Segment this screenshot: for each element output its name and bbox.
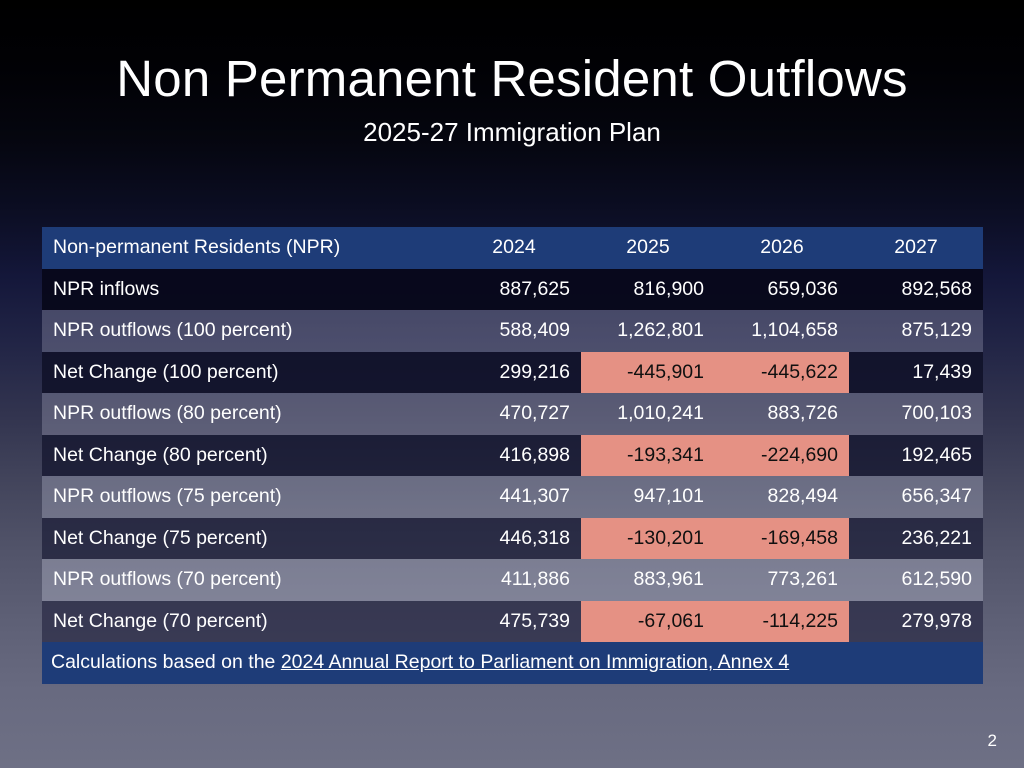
row-label: NPR inflows [42,269,447,311]
table-cell: 883,961 [581,559,715,601]
table-row: Net Change (75 percent)446,318-130,201-1… [42,518,983,560]
table-cell: 947,101 [581,476,715,518]
table-cell-highlighted: -224,690 [715,435,849,477]
table-cell: 1,262,801 [581,310,715,352]
column-header-2025: 2025 [581,227,715,269]
table-header: Non-permanent Residents (NPR) 2024 2025 … [42,227,983,269]
slide-number: 2 [988,731,997,751]
table-cell-highlighted: -114,225 [715,601,849,643]
table-body: NPR inflows887,625816,900659,036892,568N… [42,269,983,643]
table-cell: 411,886 [447,559,581,601]
row-label: NPR outflows (75 percent) [42,476,447,518]
table-cell: 416,898 [447,435,581,477]
row-label: Net Change (75 percent) [42,518,447,560]
table-cell-highlighted: -67,061 [581,601,715,643]
table-footer: Calculations based on the 2024 Annual Re… [42,642,983,684]
table-cell: 1,010,241 [581,393,715,435]
source-note-prefix: Calculations based on the [51,651,281,673]
row-label: Net Change (80 percent) [42,435,447,477]
row-label: NPR outflows (80 percent) [42,393,447,435]
table-cell-highlighted: -445,622 [715,352,849,394]
table-row: NPR outflows (100 percent)588,4091,262,8… [42,310,983,352]
table-cell-highlighted: -169,458 [715,518,849,560]
table-header-row: Non-permanent Residents (NPR) 2024 2025 … [42,227,983,269]
table-row: NPR outflows (80 percent)470,7271,010,24… [42,393,983,435]
column-header-category: Non-permanent Residents (NPR) [42,227,447,269]
table-cell: 17,439 [849,352,983,394]
column-header-2027: 2027 [849,227,983,269]
table-cell: 299,216 [447,352,581,394]
table-row: NPR outflows (75 percent)441,307947,1018… [42,476,983,518]
table-cell: 875,129 [849,310,983,352]
table-cell: 773,261 [715,559,849,601]
table-cell: 892,568 [849,269,983,311]
table-cell: 192,465 [849,435,983,477]
row-label: Net Change (100 percent) [42,352,447,394]
table-cell-highlighted: -193,341 [581,435,715,477]
slide: Non Permanent Resident Outflows 2025-27 … [0,0,1024,768]
table-cell: 883,726 [715,393,849,435]
page-title: Non Permanent Resident Outflows [0,50,1024,108]
table-cell-highlighted: -130,201 [581,518,715,560]
table-row: Net Change (100 percent)299,216-445,901-… [42,352,983,394]
page-subtitle: 2025-27 Immigration Plan [0,117,1024,147]
table-cell: 659,036 [715,269,849,311]
row-label: Net Change (70 percent) [42,601,447,643]
table-cell: 656,347 [849,476,983,518]
table-row: Net Change (80 percent)416,898-193,341-2… [42,435,983,477]
npr-table-container: Non-permanent Residents (NPR) 2024 2025 … [42,227,983,684]
title-block: Non Permanent Resident Outflows 2025-27 … [0,50,1024,147]
table-cell: 828,494 [715,476,849,518]
table-cell-highlighted: -445,901 [581,352,715,394]
source-note: Calculations based on the 2024 Annual Re… [42,642,983,684]
table-row: NPR outflows (70 percent)411,886883,9617… [42,559,983,601]
table-row: Net Change (70 percent)475,739-67,061-11… [42,601,983,643]
source-report-link[interactable]: 2024 Annual Report to Parliament on Immi… [281,651,789,673]
row-label: NPR outflows (100 percent) [42,310,447,352]
npr-table: Non-permanent Residents (NPR) 2024 2025 … [42,227,983,684]
table-footer-row: Calculations based on the 2024 Annual Re… [42,642,983,684]
table-cell: 700,103 [849,393,983,435]
table-cell: 475,739 [447,601,581,643]
column-header-2024: 2024 [447,227,581,269]
table-cell: 441,307 [447,476,581,518]
table-cell: 236,221 [849,518,983,560]
table-row: NPR inflows887,625816,900659,036892,568 [42,269,983,311]
table-cell: 1,104,658 [715,310,849,352]
table-cell: 612,590 [849,559,983,601]
table-cell: 446,318 [447,518,581,560]
table-cell: 279,978 [849,601,983,643]
column-header-2026: 2026 [715,227,849,269]
table-cell: 470,727 [447,393,581,435]
table-cell: 816,900 [581,269,715,311]
row-label: NPR outflows (70 percent) [42,559,447,601]
table-cell: 588,409 [447,310,581,352]
table-cell: 887,625 [447,269,581,311]
